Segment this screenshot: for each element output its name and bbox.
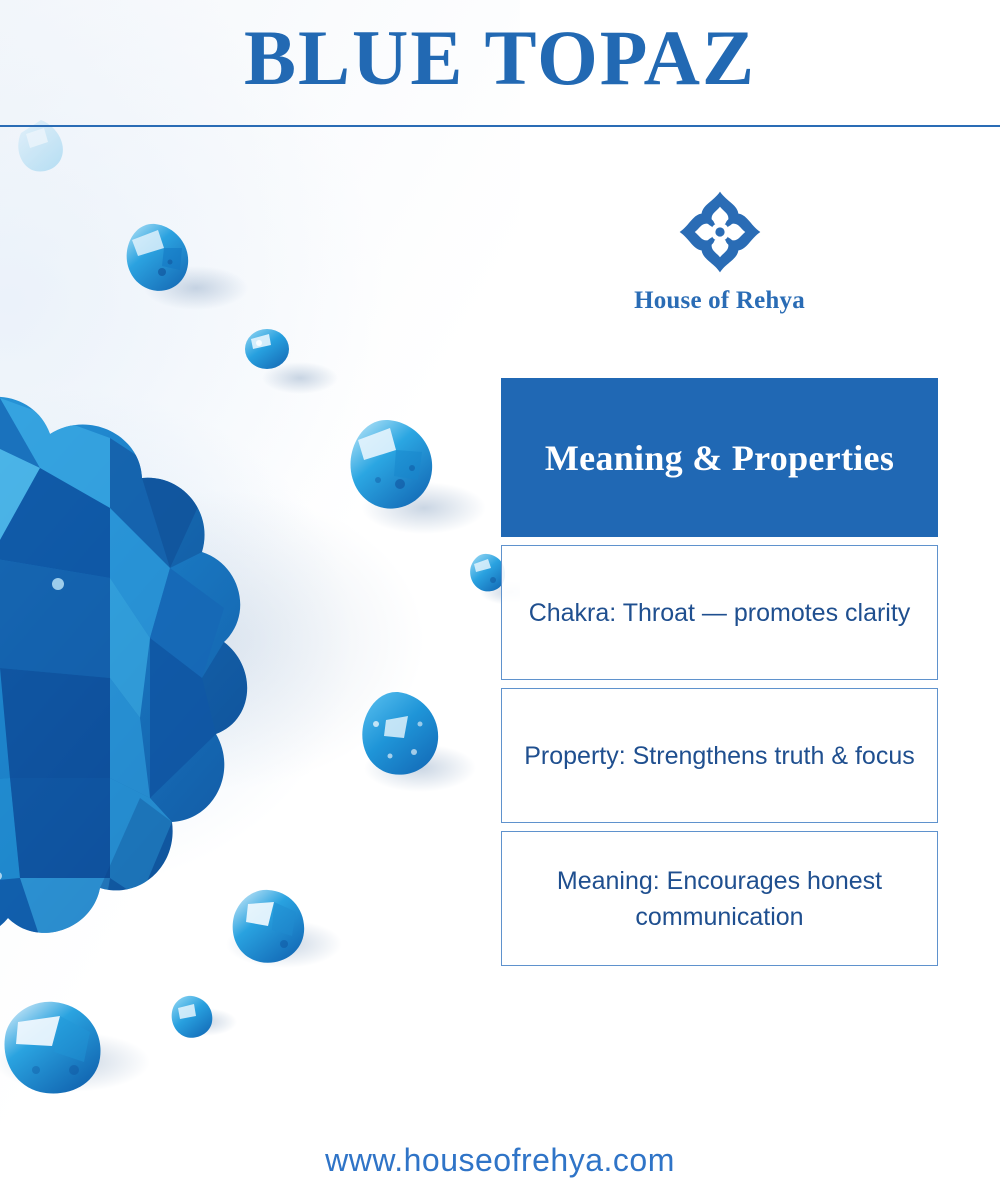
accent-gemstone: [228, 888, 308, 966]
poster-header: BLUE TOPAZ: [0, 0, 1000, 126]
poster-canvas: BLUE TOPAZ: [0, 0, 1000, 1200]
website-url[interactable]: www.houseofrehya.com: [325, 1142, 675, 1178]
main-gemstone: [0, 378, 290, 938]
accent-gemstone: [356, 690, 442, 778]
accent-gemstone: [2, 1000, 106, 1098]
poster-footer: www.houseofrehya.com: [0, 1140, 1000, 1180]
accent-gemstone: [122, 222, 192, 294]
fact-card-text: Chakra: Throat — promotes clarity: [529, 595, 911, 631]
content-panel: House of Rehya Meaning & Properties Chak…: [501, 190, 938, 966]
fact-card-text: Property: Strengthens truth & focus: [524, 738, 914, 774]
page-title: BLUE TOPAZ: [0, 14, 1000, 102]
brand-name: House of Rehya: [501, 286, 938, 316]
quatrefoil-ornament-icon: [678, 190, 762, 274]
accent-gemstone: [168, 994, 216, 1040]
brand-block: House of Rehya: [501, 190, 938, 316]
section-header-label: Meaning & Properties: [545, 436, 894, 480]
fact-card-meaning: Meaning: Encourages honest communication: [501, 831, 938, 966]
accent-gemstone: [344, 418, 436, 512]
section-header: Meaning & Properties: [501, 378, 938, 537]
fact-card-chakra: Chakra: Throat — promotes clarity: [501, 545, 938, 680]
header-divider: [0, 125, 1000, 127]
fact-card-text: Meaning: Encourages honest communication: [520, 863, 919, 935]
gemstone-artwork: [0, 0, 520, 1200]
accent-gemstone: [243, 327, 291, 371]
fact-card-property: Property: Strengthens truth & focus: [501, 688, 938, 823]
